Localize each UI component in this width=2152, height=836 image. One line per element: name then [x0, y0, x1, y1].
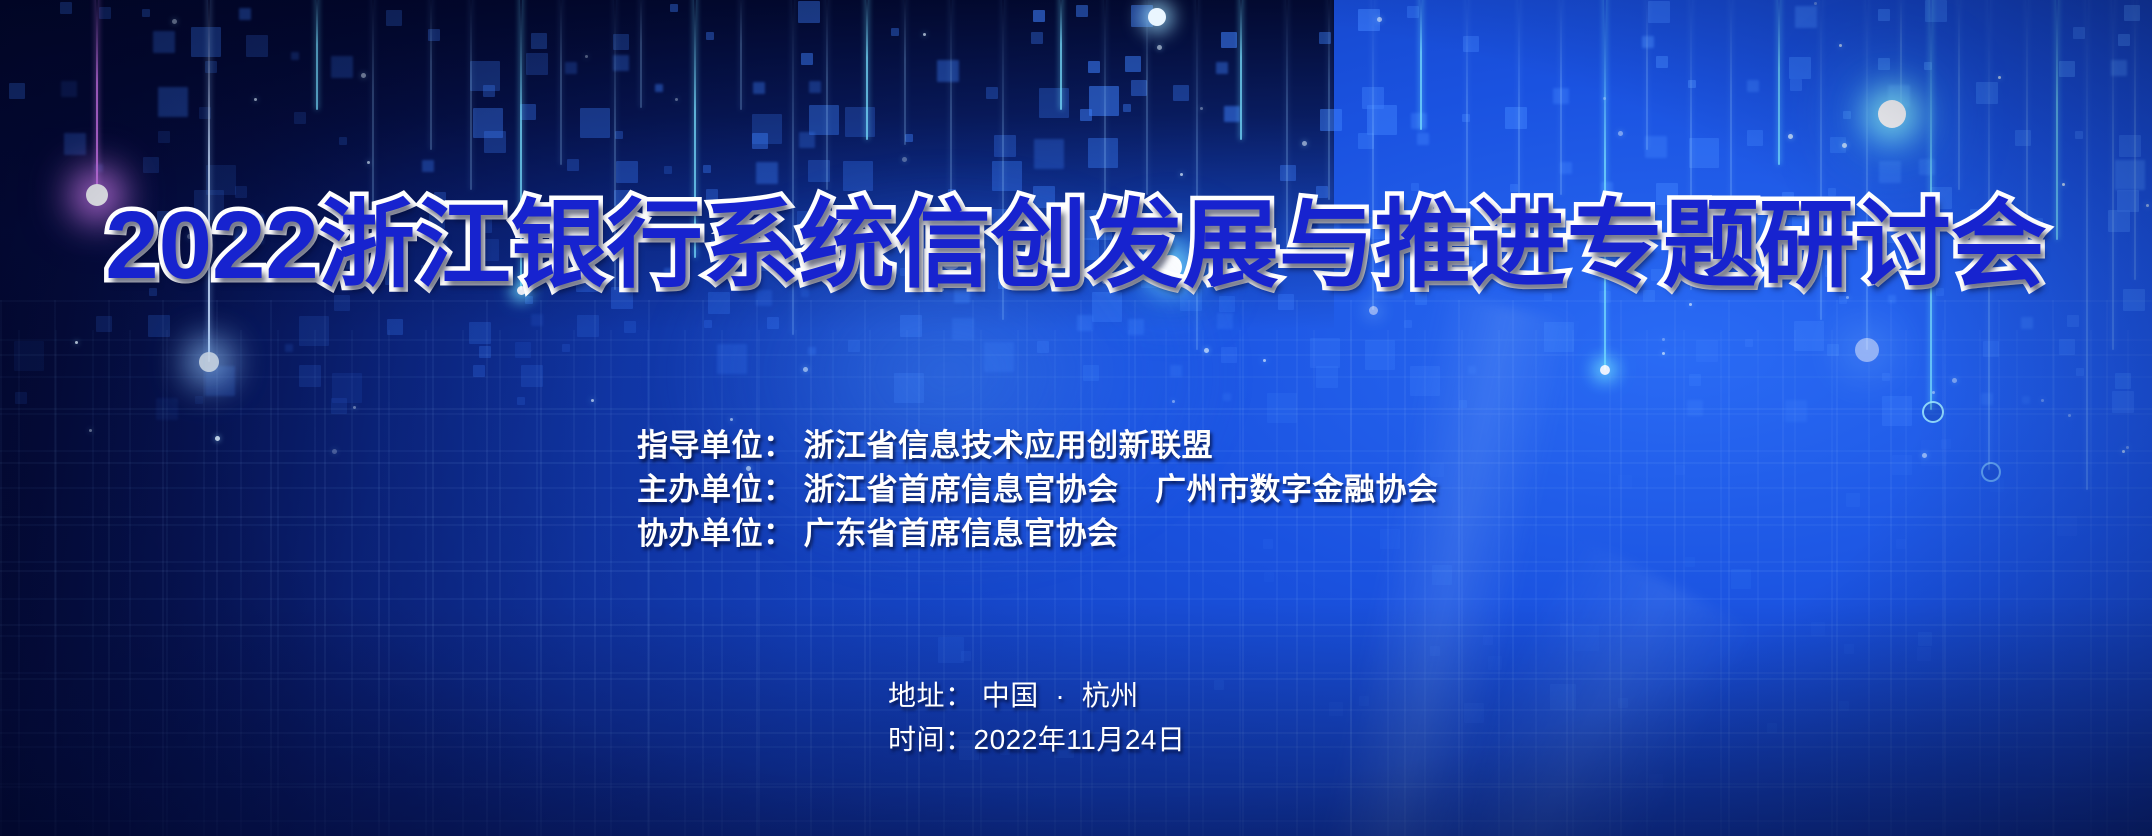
organizers-block: 指导单位： 浙江省信息技术应用创新联盟 主办单位： 浙江省首席信息官协会 广州市…: [637, 424, 1439, 556]
event-date-line: 时间：2022年11月24日: [888, 718, 1186, 762]
event-location-line: 地址： 中国 · 杭州: [888, 674, 1186, 718]
organizer-guidance-line: 指导单位： 浙江省信息技术应用创新联盟: [637, 424, 1439, 468]
event-meta-block: 地址： 中国 · 杭州 时间：2022年11月24日: [888, 674, 1186, 762]
organizer-host-line: 主办单位： 浙江省首席信息官协会 广州市数字金融协会: [637, 468, 1439, 512]
event-banner: 2022浙江银行系统信创发展与推进专题研讨会 指导单位： 浙江省信息技术应用创新…: [0, 0, 2152, 836]
page-title: 2022浙江银行系统信创发展与推进专题研讨会: [0, 196, 2152, 297]
organizer-coorg-line: 协办单位： 广东省首席信息官协会: [637, 512, 1439, 556]
